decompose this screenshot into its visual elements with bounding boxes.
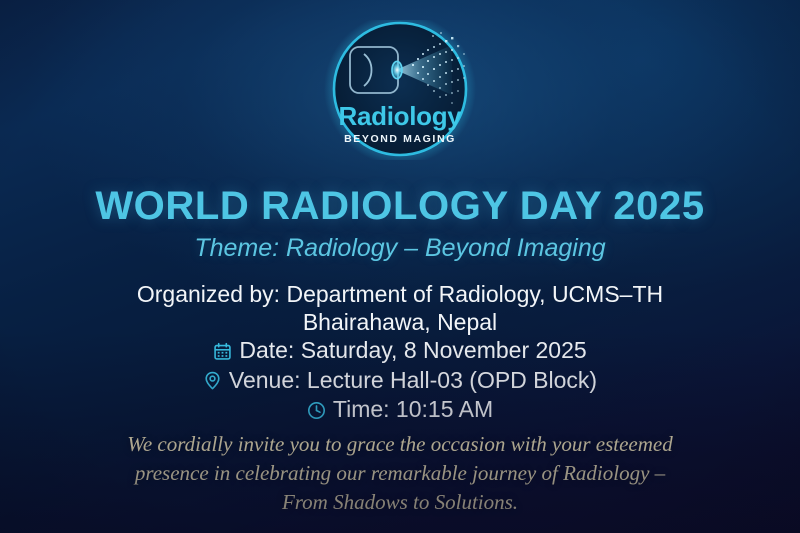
time-line-inner: Time: 10:15 AM	[307, 395, 493, 423]
logo-wordmark: Radiology	[339, 101, 463, 131]
radiology-logo: Radiology BEYOND MAGING	[320, 20, 480, 160]
location-pin-icon	[203, 371, 222, 390]
radiology-logo-graphic: Radiology BEYOND MAGING	[320, 20, 480, 160]
organizer-line-1: Organized by: Department of Radiology, U…	[0, 280, 800, 308]
event-invitation-poster: Radiology BEYOND MAGING WORLD RADIOLOGY …	[0, 0, 800, 533]
invitation-text: We cordially invite you to grace the occ…	[60, 430, 740, 517]
event-details: Organized by: Department of Radiology, U…	[0, 280, 800, 425]
date-label: Date: Saturday, 8 November 2025	[239, 336, 586, 364]
logo-tagline: BEYOND MAGING	[344, 133, 456, 145]
venue-line-inner: Venue: Lecture Hall-03 (OPD Block)	[203, 366, 597, 394]
calendar-icon	[213, 342, 232, 361]
venue-label: Venue: Lecture Hall-03 (OPD Block)	[229, 366, 597, 394]
time-label: Time: 10:15 AM	[333, 395, 493, 423]
date-line-inner: Date: Saturday, 8 November 2025	[213, 336, 586, 364]
invitation-line-3: From Shadows to Solutions.	[60, 488, 740, 517]
date-line: Date: Saturday, 8 November 2025	[0, 336, 800, 366]
time-line: Time: 10:15 AM	[0, 395, 800, 425]
organizer-line-2: Bhairahawa, Nepal	[0, 308, 800, 336]
page-title: WORLD RADIOLOGY DAY 2025	[0, 184, 800, 229]
invitation-line-1: We cordially invite you to grace the occ…	[60, 430, 740, 459]
theme-subtitle: Theme: Radiology – Beyond Imaging	[0, 234, 800, 263]
invitation-line-2: presence in celebrating our remarkable j…	[60, 459, 740, 488]
clock-icon	[307, 401, 326, 420]
venue-line: Venue: Lecture Hall-03 (OPD Block)	[0, 366, 800, 396]
